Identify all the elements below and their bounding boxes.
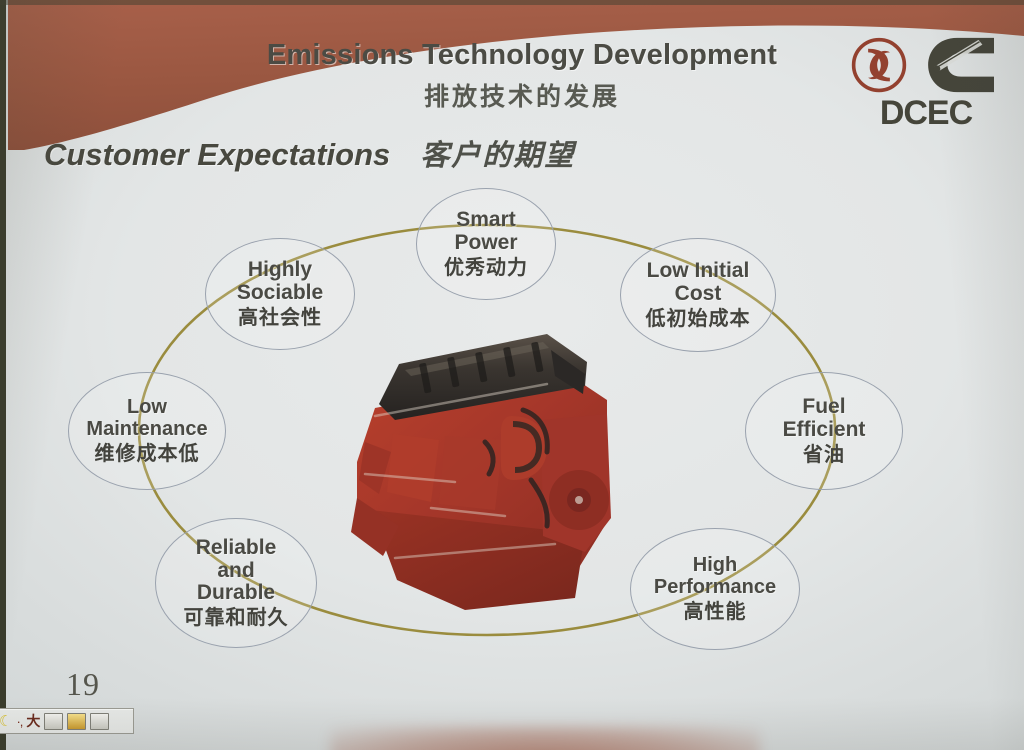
benefit-label-en: High Performance bbox=[654, 555, 776, 598]
benefit-label-zh: 高性能 bbox=[684, 602, 747, 623]
benefit-label-zh: 省油 bbox=[803, 445, 845, 466]
benefit-node-low-maintenance[interactable]: Low Maintenance 维修成本低 bbox=[68, 372, 226, 490]
dcec-wordmark: DCEC bbox=[842, 92, 1010, 132]
keyboard-icon[interactable] bbox=[44, 713, 63, 730]
benefit-node-fuel-efficient[interactable]: Fuel Efficient 省油 bbox=[745, 372, 903, 490]
logo-group: DCEC bbox=[832, 34, 1010, 136]
diesel-engine-photo bbox=[335, 312, 635, 632]
dcec-text: DCEC bbox=[880, 94, 973, 132]
dongfeng-logo bbox=[850, 36, 908, 94]
benefit-node-reliable-and-durable[interactable]: Reliable and Durable 可靠和耐久 bbox=[155, 518, 317, 648]
full-width-toggle-icon[interactable]: 大 bbox=[26, 712, 40, 730]
benefit-label-zh: 可靠和耐久 bbox=[184, 608, 289, 629]
benefit-label-zh: 高社会性 bbox=[238, 308, 322, 329]
soft-keyboard-icon[interactable] bbox=[67, 713, 86, 730]
benefit-label-en: Highly Sociable bbox=[237, 259, 323, 304]
moon-icon[interactable]: ☾ bbox=[0, 712, 12, 730]
ime-language-bar[interactable]: ☾ ·, 大 bbox=[0, 708, 134, 734]
page-number: 19 bbox=[66, 666, 100, 703]
benefit-node-smart-power[interactable]: Smart Power 优秀动力 bbox=[416, 188, 556, 300]
benefit-label-en: Reliable and Durable bbox=[196, 537, 277, 605]
presentation-slide: Emissions Technology Development 排放技术的发展… bbox=[0, 0, 1024, 750]
ime-tools-icon[interactable] bbox=[90, 713, 109, 730]
benefit-node-low-initial-cost[interactable]: Low Initial Cost 低初始成本 bbox=[620, 238, 776, 352]
benefit-label-zh: 维修成本低 bbox=[95, 444, 200, 465]
cummins-logo bbox=[924, 34, 1002, 96]
benefit-label-zh: 低初始成本 bbox=[646, 309, 751, 330]
benefit-label-en: Low Maintenance bbox=[86, 397, 207, 440]
benefit-label-en: Fuel Efficient bbox=[783, 396, 866, 441]
benefit-label-en: Low Initial Cost bbox=[647, 260, 750, 305]
punctuation-toggle-icon[interactable]: ·, bbox=[16, 712, 22, 730]
benefit-node-highly-sociable[interactable]: Highly Sociable 高社会性 bbox=[205, 238, 355, 350]
benefit-label-zh: 优秀动力 bbox=[444, 258, 528, 279]
benefit-node-high-performance[interactable]: High Performance 高性能 bbox=[630, 528, 800, 650]
benefit-label-en: Smart Power bbox=[454, 209, 517, 254]
